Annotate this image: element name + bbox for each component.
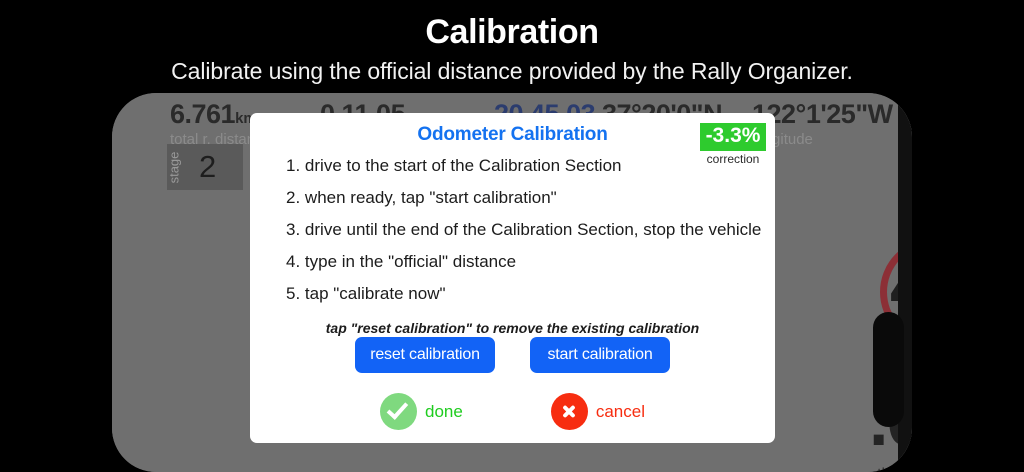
- reset-calibration-button[interactable]: reset calibration: [355, 337, 495, 373]
- list-item: type in the "official" distance: [286, 246, 746, 278]
- cancel-button[interactable]: cancel: [551, 393, 645, 430]
- cancel-label: cancel: [596, 402, 645, 422]
- stage-label: stage: [167, 144, 182, 190]
- total-distance-value: 6.761: [170, 99, 235, 129]
- screenshot-root: Calibration Calibrate using the official…: [0, 0, 1024, 472]
- list-item: drive to the start of the Calibration Se…: [286, 150, 746, 182]
- list-item: tap "calibrate now": [286, 278, 746, 310]
- reset-hint-text: tap "reset calibration" to remove the ex…: [250, 320, 775, 336]
- phone-side-button: [873, 312, 904, 427]
- list-item: drive until the end of the Calibration S…: [286, 214, 746, 246]
- dialog-title: Odometer Calibration: [250, 124, 775, 146]
- done-button[interactable]: done: [380, 393, 463, 430]
- dialog-primary-buttons: reset calibration start calibration: [250, 337, 775, 373]
- check-icon: [380, 393, 417, 430]
- dialog-action-buttons: done cancel: [250, 393, 775, 430]
- done-label: done: [425, 402, 463, 422]
- start-calibration-button[interactable]: start calibration: [530, 337, 670, 373]
- page-subtitle: Calibrate using the official distance pr…: [0, 57, 1024, 85]
- stage-indicator[interactable]: stage 2: [167, 144, 243, 190]
- correction-value: -3.3%: [700, 123, 766, 151]
- page-title: Calibration: [0, 12, 1024, 52]
- list-item: when ready, tap "start calibration": [286, 182, 746, 214]
- stage-value: 2: [199, 149, 216, 185]
- calibration-steps-list: drive to the start of the Calibration Se…: [286, 150, 746, 310]
- close-icon: [551, 393, 588, 430]
- odometer-calibration-dialog: Odometer Calibration -3.3% correction dr…: [250, 113, 775, 443]
